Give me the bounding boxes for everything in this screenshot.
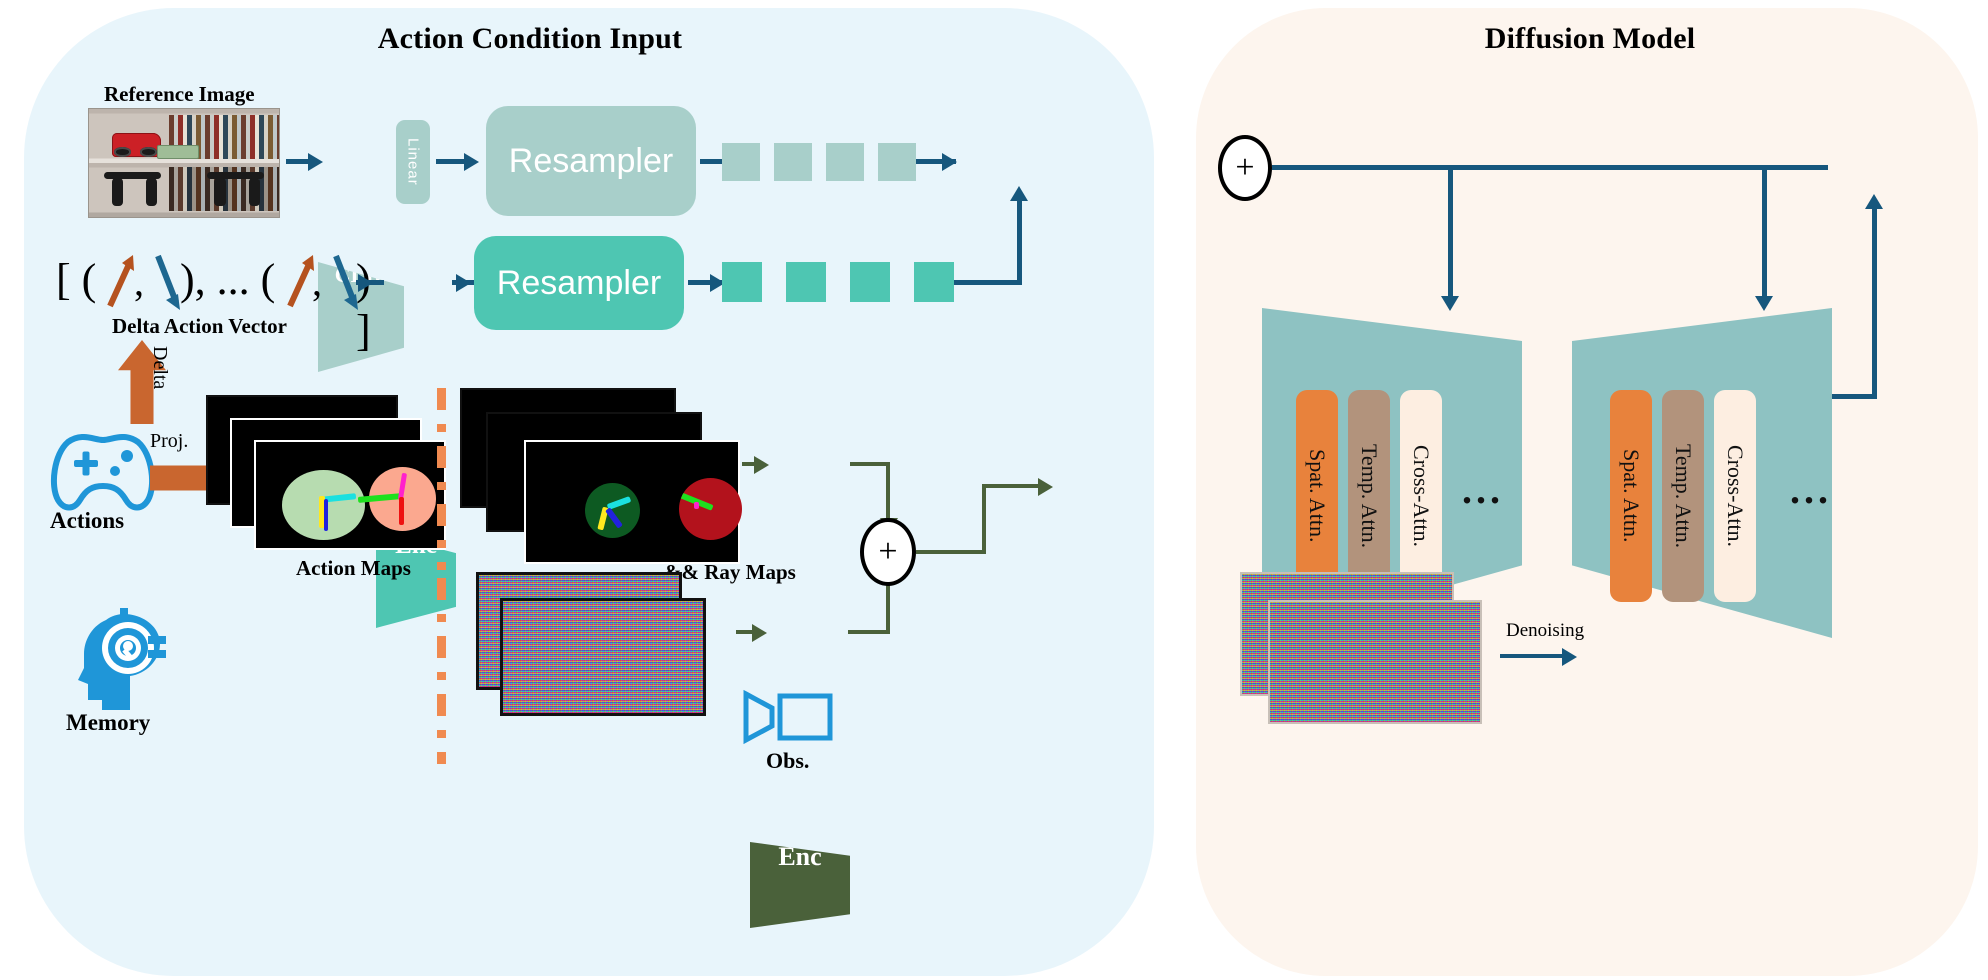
resampler-action-block: Resampler (474, 236, 684, 330)
arrow-obs-to-enc-head (752, 624, 767, 642)
attn-pill-cross-right: Cross-Attn. (1714, 390, 1756, 602)
arrow-ref-to-clip-head (308, 153, 323, 171)
action-token-3 (850, 262, 890, 302)
arrow-action-tokens-up-head (1010, 186, 1028, 201)
attn-label-temp-left: Temp. Attn. (1356, 444, 1382, 548)
attn-pill-spat-left: Spat. Attn. (1296, 390, 1338, 602)
line-maps-enc-right (850, 462, 890, 466)
arrow-ref-to-clip (286, 159, 310, 164)
expr-close-bracket: ) ] (356, 254, 386, 356)
sum-node-condition-symbol: + (1235, 151, 1254, 185)
obs-camera-icon (742, 688, 834, 746)
action-token-4 (914, 262, 954, 302)
line-sum-to-unet-up (982, 484, 986, 554)
expr-comma-2: , (312, 258, 322, 305)
proj-label: Proj. (150, 430, 188, 453)
arrow-glyph-up-right-orange (104, 250, 138, 312)
line-action-tokens-right (954, 280, 1022, 285)
line-unet-to-viddec (1872, 204, 1877, 398)
diagram-root: Action Condition Input Reference Image C… (0, 0, 1988, 980)
expr-middle: ), ... ( (180, 254, 275, 305)
panel-title-action-condition-input: Action Condition Input (330, 22, 730, 56)
action-token-1 (722, 262, 762, 302)
delta-arrow-label: Delta (148, 346, 171, 389)
linear-projection-block: Linear (396, 120, 430, 204)
line-unet-to-viddec-head (1865, 194, 1883, 209)
action-map-circle-salmon (369, 467, 437, 531)
image-token-3 (826, 143, 864, 181)
action-token-2 (786, 262, 826, 302)
line-obs-enc-right (848, 630, 890, 634)
panel-title-diffusion-model: Diffusion Model (1400, 22, 1780, 56)
attn-label-spat-left: Spat. Attn. (1304, 449, 1330, 543)
attn-pill-temp-right: Temp. Attn. (1662, 390, 1704, 602)
sum-node-latent-symbol: + (878, 535, 897, 569)
condition-drop-left-head (1441, 296, 1459, 311)
reference-image-thumbnail (88, 108, 280, 218)
attn-label-cross-right: Cross-Attn. (1722, 445, 1748, 547)
resampler-image-label: Resampler (509, 142, 673, 181)
dashed-separator-bottom (437, 578, 446, 764)
attn-pill-temp-left: Temp. Attn. (1348, 390, 1390, 602)
attn-label-temp-right: Temp. Attn. (1670, 444, 1696, 548)
action-map-frame-front (254, 440, 446, 550)
arrow-denoising (1500, 654, 1568, 658)
delta-action-vector-label: Delta Action Vector (112, 314, 287, 339)
memory-label: Memory (66, 710, 150, 736)
arrow-denoising-head (1562, 648, 1577, 666)
attn-pill-spat-right: Spat. Attn. (1610, 390, 1652, 602)
image-token-4 (878, 143, 916, 181)
condition-drop-left (1448, 165, 1453, 305)
memory-head-icon (76, 604, 168, 712)
line-action-tokens-up (1017, 198, 1022, 284)
sum-node-condition: + (1218, 135, 1272, 201)
line-maps-enc-down (886, 462, 890, 524)
denoise-input-front (1268, 600, 1482, 724)
line-obs-enc-up (886, 578, 890, 632)
attn-label-spat-right: Spat. Attn. (1618, 449, 1644, 543)
resampler-image-block: Resampler (486, 106, 696, 216)
dashed-separator-top (437, 388, 446, 570)
condition-drop-right (1762, 165, 1767, 305)
expr-comma-1: , (134, 258, 144, 305)
ray-maps-label: && Ray Maps (664, 560, 796, 585)
actions-label: Actions (50, 508, 124, 534)
condition-drop-right-head (1755, 296, 1773, 311)
image-token-2 (774, 143, 812, 181)
attn-pill-cross-left: Cross-Attn. (1400, 390, 1442, 602)
arrow-expr-to-enc-head (358, 274, 373, 292)
obs-label: Obs. (766, 748, 809, 774)
resampler-action-label: Resampler (497, 264, 661, 303)
unet-right-ellipsis: ... (1790, 466, 1832, 513)
condition-bus-horizontal (1272, 165, 1828, 170)
image-token-1 (722, 143, 760, 181)
line-sum-to-unet-right (916, 550, 986, 554)
unet-left-ellipsis: ... (1462, 466, 1504, 513)
ray-map-frame-front (524, 440, 740, 564)
obs-noisy-frame-mid (500, 598, 706, 716)
ray-map-circle-darkred (679, 478, 743, 540)
sum-node-latent: + (860, 518, 916, 586)
expr-open-bracket: [ ( (56, 254, 96, 305)
linear-label: Linear (405, 138, 422, 186)
arrow-raymaps-to-enc-head (754, 456, 769, 474)
delta-action-vector-expression: [ ( , ), ... ( , ) ] (56, 250, 386, 320)
arrow-linear-to-resampler-head (464, 153, 479, 171)
arrow-enc-to-resampler2-head (456, 274, 471, 292)
maps-encoder-block: Enc (750, 842, 850, 928)
action-map-circle-green (282, 470, 365, 540)
reference-image-label: Reference Image (104, 82, 255, 107)
line-sum-to-unet-across (982, 484, 1044, 488)
action-maps-label: Action Maps (296, 556, 411, 581)
arrow-linear-to-resampler (436, 159, 466, 164)
attn-label-cross-left: Cross-Attn. (1408, 445, 1434, 547)
arrow-sum-to-unet-head (1038, 478, 1053, 496)
ray-map-circle-darkgreen (585, 483, 640, 538)
denoising-label: Denoising (1506, 620, 1584, 642)
gamepad-icon (44, 434, 162, 516)
arrow-image-tokens-to-sum-head (942, 153, 957, 171)
